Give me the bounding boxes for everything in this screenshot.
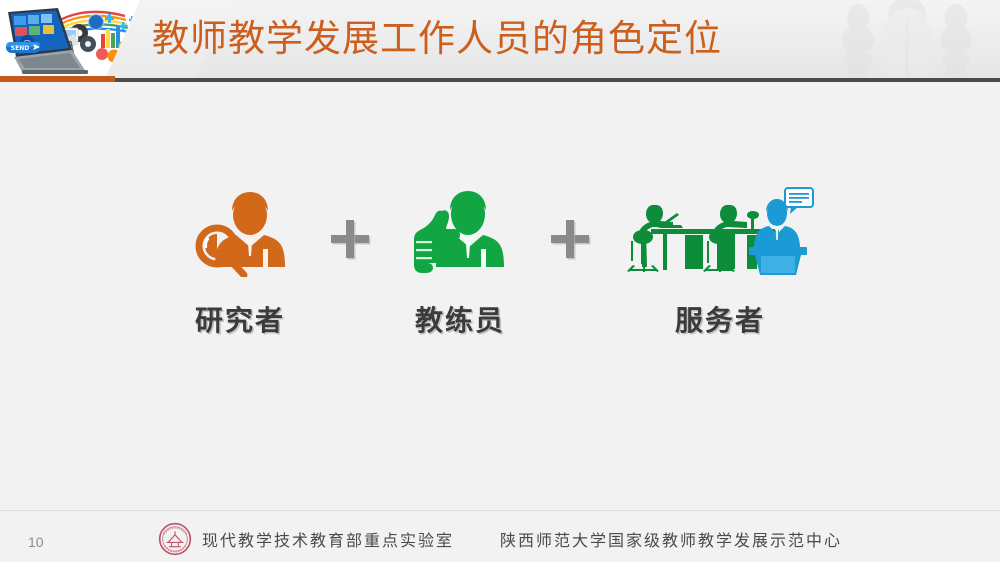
presentation-slide: @ SEND 教师教学发展工作人员的角色定位: [0, 0, 1000, 562]
coach-thumbs-up-person-icon: [412, 191, 508, 277]
plus-icon: [331, 220, 369, 258]
researcher-magnifier-person-icon: [192, 191, 288, 277]
role-label-researcher: 研究者: [195, 299, 285, 339]
role-item-coach: 教练员: [385, 185, 535, 339]
university-seal-icon: [158, 522, 192, 556]
plus-separator-1: [315, 193, 385, 285]
role-item-service: 服务者: [605, 185, 835, 339]
page-title: 教师教学发展工作人员的角色定位: [152, 13, 722, 65]
footer: 现代教学技术教育部重点实验室 陕西师范大学国家级教师教学发展示范中心: [0, 522, 1000, 556]
footer-center-name: 陕西师范大学国家级教师教学发展示范中心: [500, 527, 842, 551]
header-divider-orange: [0, 76, 115, 82]
role-label-service: 服务者: [675, 299, 765, 339]
slide-header: @ SEND 教师教学发展工作人员的角色定位: [0, 0, 1000, 80]
footer-lab-name: 现代教学技术教育部重点实验室: [202, 527, 454, 551]
header-divider-dark: [0, 78, 1000, 82]
role-icon-wrapper: [625, 185, 815, 277]
role-icon-wrapper: [412, 185, 508, 277]
footer-divider: [0, 510, 1000, 511]
service-seminar-presenter-icon: [625, 185, 815, 277]
role-item-researcher: 研究者: [165, 185, 315, 339]
role-label-coach: 教练员: [415, 299, 505, 339]
roles-row: 研究者: [0, 185, 1000, 360]
plus-separator-2: [535, 193, 605, 285]
group-of-people-watermark-icon: [832, 0, 982, 80]
role-icon-wrapper: [192, 185, 288, 277]
banner-send-label: SEND: [11, 45, 29, 52]
plus-icon: [551, 220, 589, 258]
